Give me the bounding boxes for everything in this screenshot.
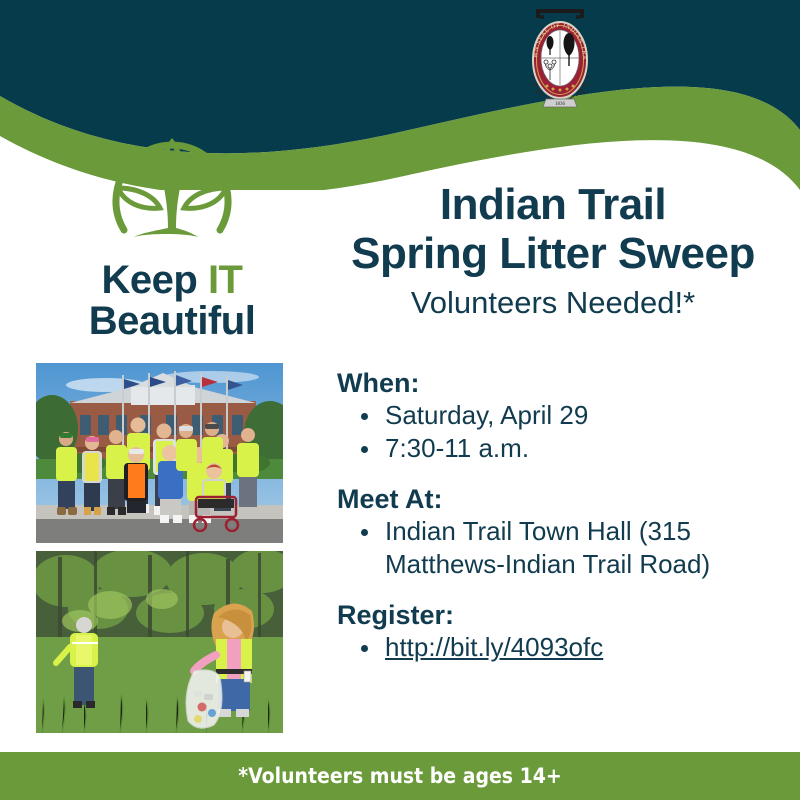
detail-list-item: Indian Trail Town Hall (315 Matthews-Ind…	[359, 515, 792, 581]
keep-it-beautiful-logo: Keep IT Beautiful	[62, 112, 282, 340]
page-title-line-2: Spring Litter Sweep	[318, 229, 788, 278]
page-subtitle: Volunteers Needed!*	[318, 286, 788, 320]
headline-block: Indian Trail Spring Litter Sweep Volunte…	[318, 180, 788, 320]
footer-bar: *Volunteers must be ages 14+	[0, 752, 800, 800]
logo-line-2: Beautiful	[62, 301, 282, 342]
logo-keep-text: Keep	[102, 258, 208, 302]
detail-list-item: 7:30-11 a.m.	[359, 432, 792, 465]
logo-line-1: Keep IT	[62, 260, 282, 301]
town-seal-indian-trail: TOWN SEAL OF INDIAN TRAIL 1836	[522, 6, 598, 110]
detail-heading: Meet At:	[337, 483, 792, 515]
trash-bag	[186, 670, 222, 728]
footer-note: *Volunteers must be ages 14+	[238, 764, 561, 788]
detail-list: Saturday, April 297:30-11 a.m.	[337, 399, 792, 465]
logo-it-text: IT	[208, 258, 243, 302]
detail-heading: When:	[337, 367, 792, 399]
seal-banner-year: 1836	[555, 102, 566, 107]
detail-list: Indian Trail Town Hall (315 Matthews-Ind…	[337, 515, 792, 581]
detail-section: Register:http://bit.ly/4093ofc	[337, 599, 792, 664]
detail-heading: Register:	[337, 599, 792, 631]
detail-section: Meet At:Indian Trail Town Hall (315 Matt…	[337, 483, 792, 581]
page-title-line-1: Indian Trail	[318, 180, 788, 229]
detail-section: When:Saturday, April 297:30-11 a.m.	[337, 367, 792, 465]
poster-canvas: TOWN SEAL OF INDIAN TRAIL 1836	[0, 0, 800, 800]
seal-banner: 1836	[543, 99, 577, 107]
register-link[interactable]: http://bit.ly/4093ofc	[385, 632, 603, 662]
tree-in-circle-icon	[62, 112, 282, 260]
event-details-block: When:Saturday, April 297:30-11 a.m.Meet …	[337, 367, 792, 666]
detail-list-item[interactable]: http://bit.ly/4093ofc	[359, 631, 792, 664]
photo-volunteers-collecting-litter	[36, 551, 283, 733]
detail-list-item: Saturday, April 29	[359, 399, 792, 432]
seal-hanger	[536, 9, 584, 19]
detail-list: http://bit.ly/4093ofc	[337, 631, 792, 664]
photo-volunteer-group-town-hall	[36, 363, 283, 543]
